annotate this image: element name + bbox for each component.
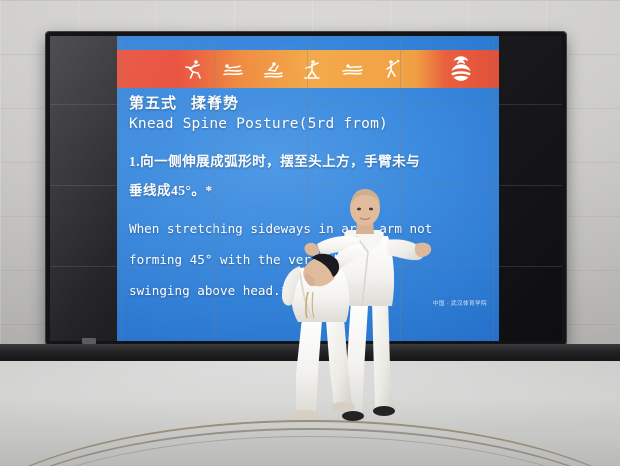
slide-title-chinese: 第五式揉脊势: [129, 94, 485, 114]
body-english-line-2: forming 45° with the verti hen: [129, 244, 485, 275]
slide-header-band: [117, 50, 499, 88]
slide-title-english: Knead Spine Posture(5rd from): [129, 114, 485, 135]
video-wall-display[interactable]: 第五式揉脊势 Knead Spine Posture(5rd from) 1.向…: [46, 32, 566, 345]
handball-icon: [382, 58, 402, 80]
wuhan-sports-university-emblem: [445, 53, 477, 85]
running-icon: [183, 58, 203, 80]
title-index-cn: 第五式: [129, 96, 177, 112]
rowing-icon: [341, 61, 363, 77]
gymnastics-icon: [302, 58, 322, 80]
slide-body: 第五式揉脊势 Knead Spine Posture(5rd from) 1.向…: [117, 88, 499, 345]
wall-baseboard: [0, 344, 620, 361]
body-chinese-line-1: 1.向一侧伸展成弧形时，摆至头上方，手臂未与: [129, 147, 485, 176]
body-english-line-1: When stretching sideways in arc: arm not: [129, 213, 485, 244]
swimming-icon: [222, 60, 244, 78]
presentation-slide: 第五式揉脊势 Knead Spine Posture(5rd from) 1.向…: [117, 34, 499, 345]
lecture-hall-scene: 第五式揉脊势 Knead Spine Posture(5rd from) 1.向…: [0, 0, 620, 466]
body-chinese-line-2: 垂线成45°。*: [129, 176, 485, 205]
title-name-cn: 揉脊势: [191, 96, 239, 112]
diving-icon: [263, 59, 283, 79]
sports-pictograms: [183, 50, 402, 88]
display-brand-label: [82, 338, 96, 344]
body-english-line-3: swinging above head.*: [129, 275, 485, 306]
slide-watermark: 中国 · 武汉体育学院: [433, 299, 487, 307]
